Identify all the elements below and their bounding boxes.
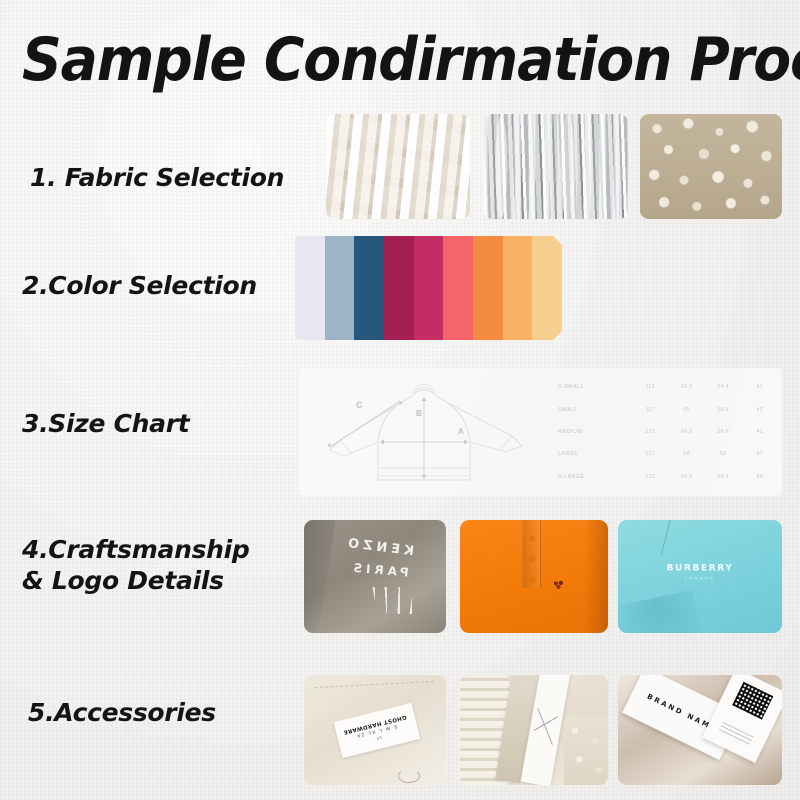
size-chart-panel: A B C X-SMALL 112 63.5 54.4 41 SMALL 117… — [300, 368, 782, 496]
logo-main-text: BURBERRY — [667, 563, 734, 573]
table-row: SMALL 117 65 55.6 43 — [558, 407, 778, 413]
kenzo-garment-photo: KENZO PARIS — [304, 520, 446, 633]
kenzo-print-graphic: KENZO PARIS — [335, 538, 423, 617]
size-value: 122 — [632, 429, 669, 435]
color-band-deep-magenta[interactable] — [384, 236, 414, 340]
boucle-texture — [640, 114, 782, 219]
size-value: 66.5 — [669, 429, 706, 435]
drawcord — [398, 769, 420, 783]
section-label-craftsmanship-logo-details: 4.Craftsmanship & Logo Details — [22, 534, 250, 596]
table-row: X-LARGE 132 69.5 58.2 49 — [558, 474, 778, 480]
sample-confirmation-infographic: Sample Condirmation Process 1. Fabric Se… — [0, 0, 800, 800]
fabric-fold — [304, 520, 336, 633]
cable-knit-texture — [326, 114, 470, 219]
size-name: X-LARGE — [558, 474, 632, 480]
accessory-photo-brand-qr-tag[interactable]: BRAND NAME — [618, 675, 782, 785]
size-measurements-table: X-SMALL 112 63.5 54.4 41 SMALL 117 65 55… — [550, 368, 782, 496]
hood-seam — [315, 681, 434, 688]
color-band-lavender-mist[interactable] — [295, 236, 325, 340]
craftsmanship-photo-orange-polo[interactable] — [460, 520, 608, 633]
size-value: 43 — [742, 407, 779, 413]
fabric-swatch-wavy-grey[interactable] — [484, 114, 628, 219]
craftsmanship-photo-kenzo-print[interactable]: KENZO PARIS — [304, 520, 446, 633]
sweater-technical-drawing: A B C — [300, 368, 550, 496]
qr-code-icon — [732, 682, 773, 720]
size-value: 63.5 — [669, 384, 706, 390]
size-value: 47 — [742, 451, 779, 457]
size-value: 56.8 — [705, 429, 742, 435]
turquoise-tee-photo: BURBERRY LONDON — [618, 520, 782, 633]
table-row: MEDIUM 122 66.5 56.8 45 — [558, 429, 778, 435]
size-value: 58 — [705, 451, 742, 457]
logo-sub-text: LONDON — [667, 575, 734, 580]
signature-mark — [531, 694, 562, 753]
tag-text-lines — [718, 722, 754, 748]
knit-background-secondary — [564, 717, 608, 785]
fabric-drape — [618, 590, 706, 633]
table-row: X-SMALL 112 63.5 54.4 41 — [558, 384, 778, 390]
print-rays-graphic — [346, 587, 413, 614]
size-value: 41 — [742, 384, 779, 390]
color-band-light-orange[interactable] — [503, 236, 533, 340]
size-name: LARGE — [558, 451, 632, 457]
section-label-size-chart: 3.Size Chart — [22, 408, 189, 439]
color-band-steel-blue[interactable] — [354, 236, 384, 340]
fabric-swatch-cable-knit[interactable] — [326, 114, 470, 219]
svg-text:A: A — [458, 427, 464, 436]
size-value: 49 — [742, 474, 779, 480]
color-band-dusty-blue[interactable] — [325, 236, 355, 340]
svg-text:B: B — [416, 409, 422, 418]
woven-care-tag: GHOST HARDWARE S M L XL 2X 5P — [333, 703, 419, 759]
section-label-accessories: 5.Accessories — [28, 697, 216, 728]
svg-text:C: C — [356, 400, 363, 410]
wavy-grey-texture — [484, 114, 628, 219]
color-band-orange[interactable] — [473, 236, 503, 340]
size-value: 58.2 — [705, 474, 742, 480]
color-band-peach[interactable] — [532, 236, 562, 340]
fabric-shadow — [584, 520, 608, 633]
polo-button — [530, 536, 535, 541]
shoulder-seam — [627, 520, 671, 555]
section-label-fabric-selection: 1. Fabric Selection — [30, 162, 284, 193]
accessory-photo-care-label[interactable]: GHOST HARDWARE S M L XL 2X 5P — [304, 675, 446, 785]
color-palette-strip[interactable] — [295, 236, 562, 340]
polo-button — [530, 556, 535, 561]
embroidered-logo-icon — [552, 579, 565, 590]
brand-qr-tag-photo: BRAND NAME — [618, 675, 782, 785]
accessory-photo-hang-tags[interactable] — [460, 675, 608, 785]
size-name: SMALL — [558, 407, 632, 413]
orange-polo-photo — [460, 520, 608, 633]
size-name: MEDIUM — [558, 429, 632, 435]
size-value: 69.5 — [669, 474, 706, 480]
section-label-color-selection: 2.Color Selection — [22, 270, 257, 301]
size-value: 127 — [632, 451, 669, 457]
size-value: 117 — [632, 407, 669, 413]
size-value: 54.4 — [705, 384, 742, 390]
polo-button — [530, 577, 535, 582]
care-label-photo: GHOST HARDWARE S M L XL 2X 5P — [304, 675, 446, 785]
size-name: X-SMALL — [558, 384, 632, 390]
fabric-swatch-boucle[interactable] — [640, 114, 782, 219]
size-value: 112 — [632, 384, 669, 390]
table-row: LARGE 127 68 58 47 — [558, 451, 778, 457]
printed-logo: BURBERRY LONDON — [667, 563, 734, 580]
size-value: 68 — [669, 451, 706, 457]
size-value: 65 — [669, 407, 706, 413]
size-value: 45 — [742, 429, 779, 435]
size-value: 132 — [632, 474, 669, 480]
page-title: Sample Condirmation Process — [22, 28, 730, 92]
print-line-two: PARIS — [335, 560, 424, 582]
craftsmanship-photo-turquoise-tee[interactable]: BURBERRY LONDON — [618, 520, 782, 633]
color-band-raspberry[interactable] — [414, 236, 444, 340]
print-line-one: KENZO — [335, 534, 424, 560]
color-band-coral-red[interactable] — [443, 236, 473, 340]
size-value: 55.6 — [705, 407, 742, 413]
care-tag-care-code: 5P — [375, 736, 382, 741]
hang-tags-photo — [460, 675, 608, 785]
